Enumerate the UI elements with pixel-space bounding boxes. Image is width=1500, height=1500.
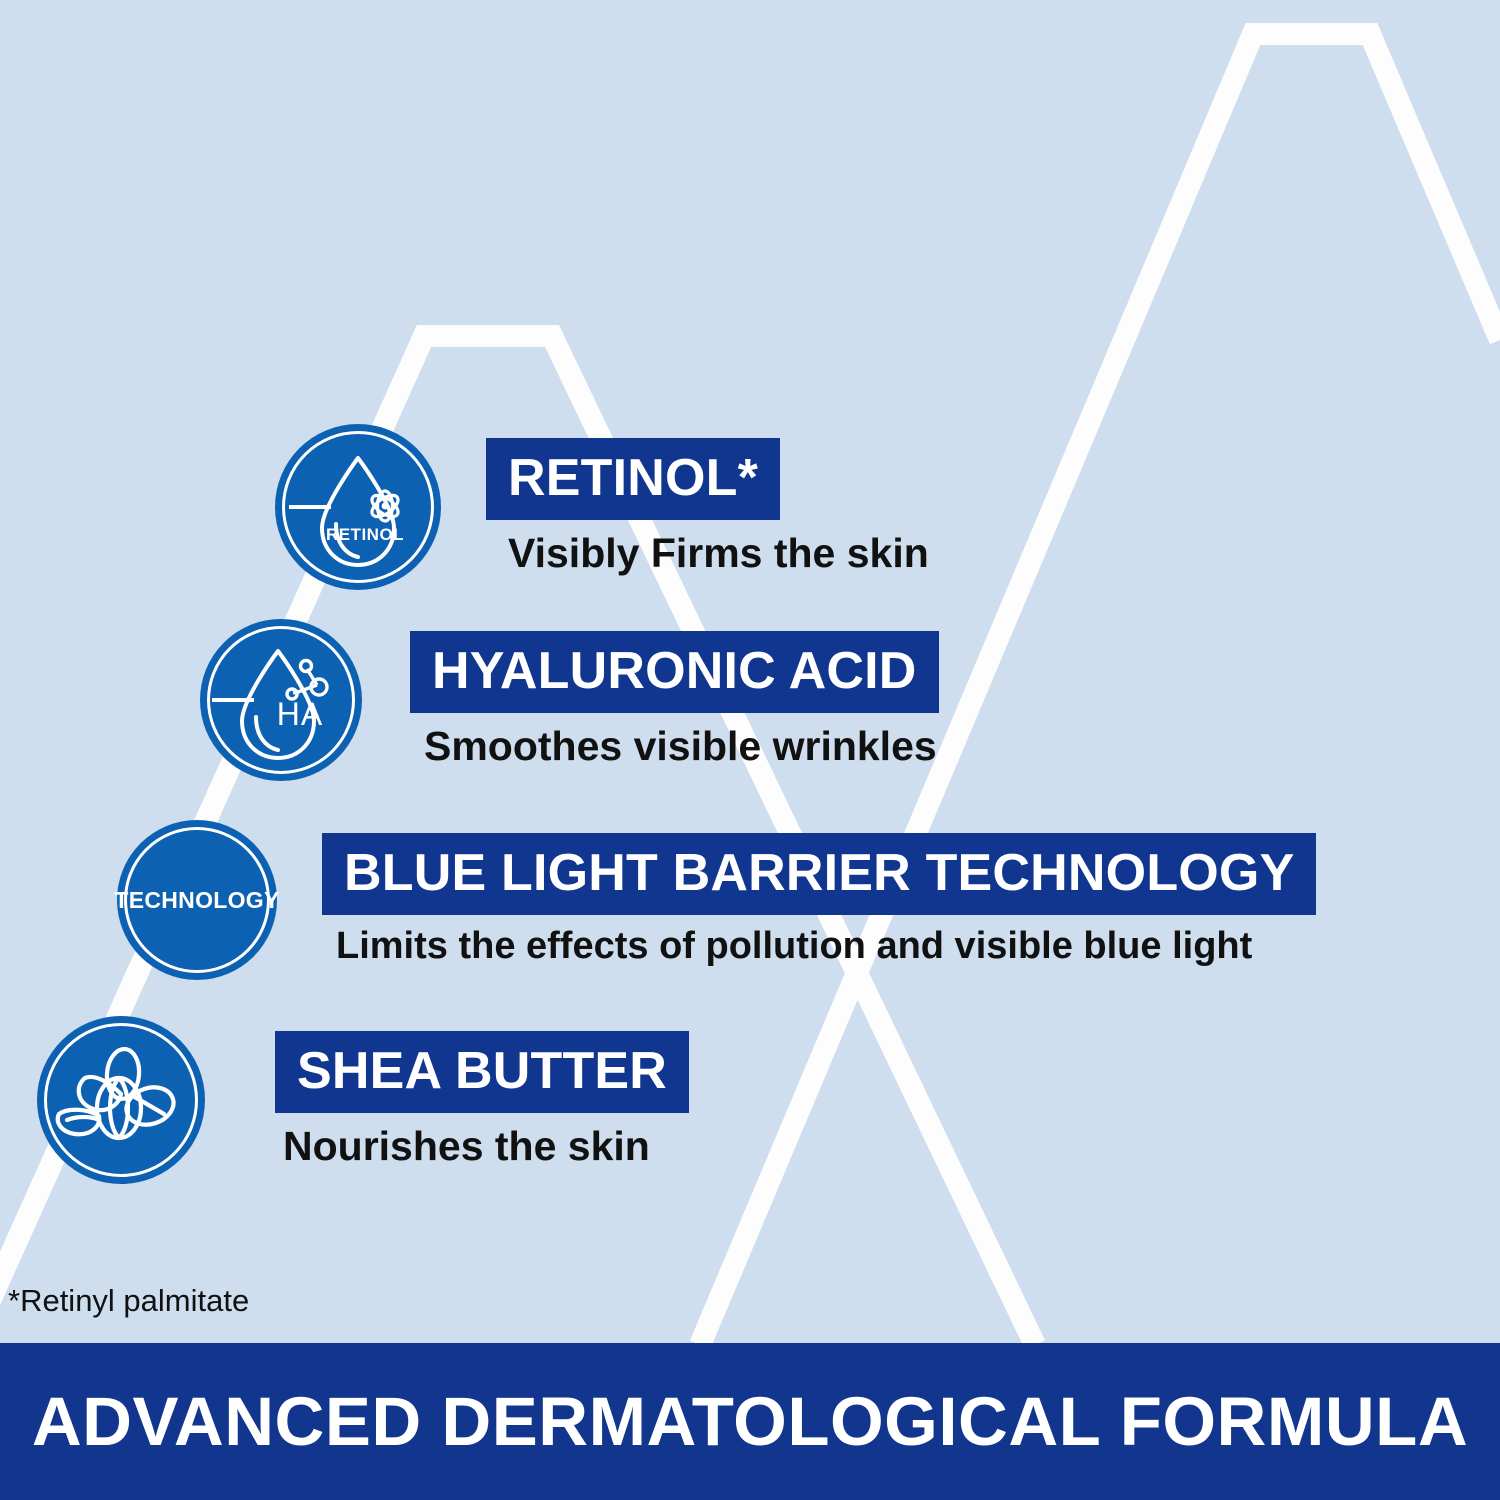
technology-subtitle: Limits the effects of pollution and visi… [336,927,1252,967]
shea-nut-icon [37,1016,205,1184]
retinol-subtitle: Visibly Firms the skin [508,532,929,575]
product-ingredient-infographic: RETINOL RETINOL* Visibly Firms the skin [0,0,1500,1500]
svg-text:HA: HA [277,696,323,732]
technology-title: BLUE LIGHT BARRIER TECHNOLOGY [322,833,1316,915]
ingredient-row-shea-butter: SHEA BUTTER Nourishes the skin [37,1016,689,1184]
bottom-banner: ADVANCED DERMATOLOGICAL FORMULA [0,1343,1500,1500]
svg-text:RETINOL: RETINOL [326,525,404,544]
retinol-title: RETINOL* [486,438,780,520]
technology-text-block: BLUE LIGHT BARRIER TECHNOLOGY Limits the… [322,833,1316,967]
shea-butter-subtitle: Nourishes the skin [283,1125,650,1168]
hyaluronic-acid-subtitle: Smoothes visible wrinkles [424,725,937,768]
hyaluronic-acid-title: HYALURONIC ACID [410,631,939,713]
retinol-text-block: RETINOL* Visibly Firms the skin [486,438,929,575]
retinol-droplet-icon: RETINOL [275,424,441,590]
shea-butter-text-block: SHEA BUTTER Nourishes the skin [275,1031,689,1168]
technology-circle-label: TECHNOLOGY [114,887,279,914]
technology-circle-icon: TECHNOLOGY [117,820,277,980]
banner-title: ADVANCED DERMATOLOGICAL FORMULA [32,1382,1468,1461]
hyaluronic-acid-droplet-icon: HA [200,619,362,781]
hyaluronic-acid-text-block: HYALURONIC ACID Smoothes visible wrinkle… [410,631,939,768]
ingredient-row-technology: TECHNOLOGY BLUE LIGHT BARRIER TECHNOLOGY… [117,820,1316,980]
footnote: *Retinyl palmitate [8,1283,249,1319]
shea-butter-title: SHEA BUTTER [275,1031,689,1113]
ingredient-row-hyaluronic-acid: HA HYALURONIC ACID Smoothes visible wrin… [200,619,939,781]
ingredient-row-retinol: RETINOL RETINOL* Visibly Firms the skin [275,424,929,590]
